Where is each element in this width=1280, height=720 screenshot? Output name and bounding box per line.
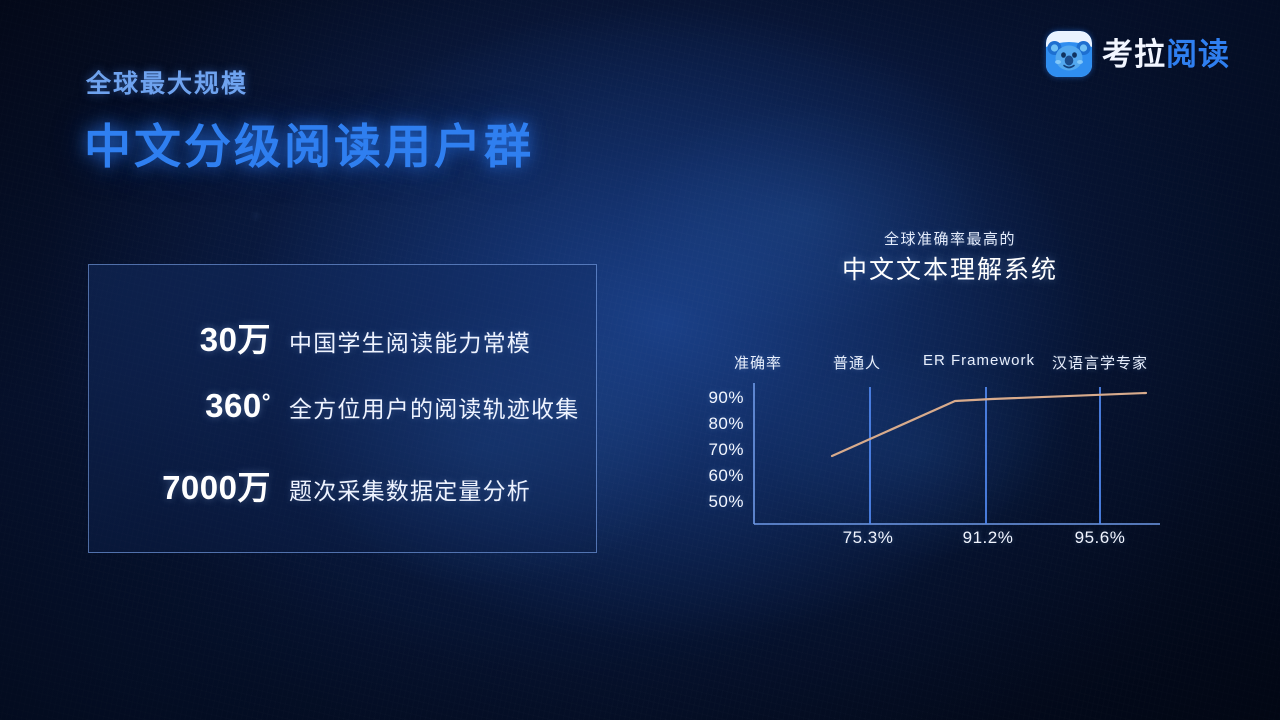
chart-title: 中文文本理解系统	[760, 250, 1140, 286]
chart-subtitle: 全球准确率最高的	[760, 228, 1140, 249]
chart-value-label-1: 91.2%	[963, 528, 1014, 548]
stat-row: 30万 中国学生阅读能力常模	[89, 313, 596, 361]
stat-label: 中国学生阅读能力常模	[289, 324, 531, 358]
stats-panel: 30万 中国学生阅读能力常模 360° 全方位用户的阅读轨迹收集 7000万 题…	[88, 264, 597, 553]
page-eyebrow: 全球最大规模	[86, 64, 248, 100]
chart-value-label-2: 95.6%	[1075, 528, 1126, 548]
degree-symbol: °	[262, 389, 271, 414]
brand-name-secondary: 阅读	[1166, 37, 1230, 72]
koala-icon	[1046, 31, 1092, 77]
brand-wordmark: 考拉阅读	[1102, 39, 1230, 70]
stat-label: 全方位用户的阅读轨迹收集	[289, 390, 579, 424]
brand-name-primary: 考拉	[1102, 37, 1166, 72]
stat-row: 360° 全方位用户的阅读轨迹收集	[89, 387, 596, 425]
stat-label: 题次采集数据定量分析	[289, 472, 531, 506]
chart-accuracy-line	[832, 393, 1146, 456]
slide-root: 考拉阅读 全球最大规模 中文分级阅读用户群 30万 中国学生阅读能力常模 360…	[0, 0, 1280, 720]
chart-plot-area	[700, 383, 1170, 528]
chart-value-label-0: 75.3%	[843, 528, 894, 548]
brand-logo: 考拉阅读	[1046, 31, 1230, 77]
accuracy-chart: 全球准确率最高的 中文文本理解系统 准确率 普通人 ER Framework 汉…	[700, 228, 1200, 558]
chart-column-header-1: ER Framework	[923, 352, 1035, 369]
chart-axis-label-accuracy: 准确率	[734, 352, 782, 373]
page-title: 中文分级阅读用户群	[84, 108, 534, 177]
chart-column-header-2: 汉语言学专家	[1052, 352, 1148, 373]
stat-value: 30万	[89, 313, 289, 361]
chart-column-header-0: 普通人	[833, 352, 881, 373]
stat-value: 360°	[89, 387, 289, 425]
stat-value: 7000万	[89, 461, 289, 509]
stat-row: 7000万 题次采集数据定量分析	[89, 461, 596, 509]
stat-value-number: 360	[205, 387, 262, 424]
